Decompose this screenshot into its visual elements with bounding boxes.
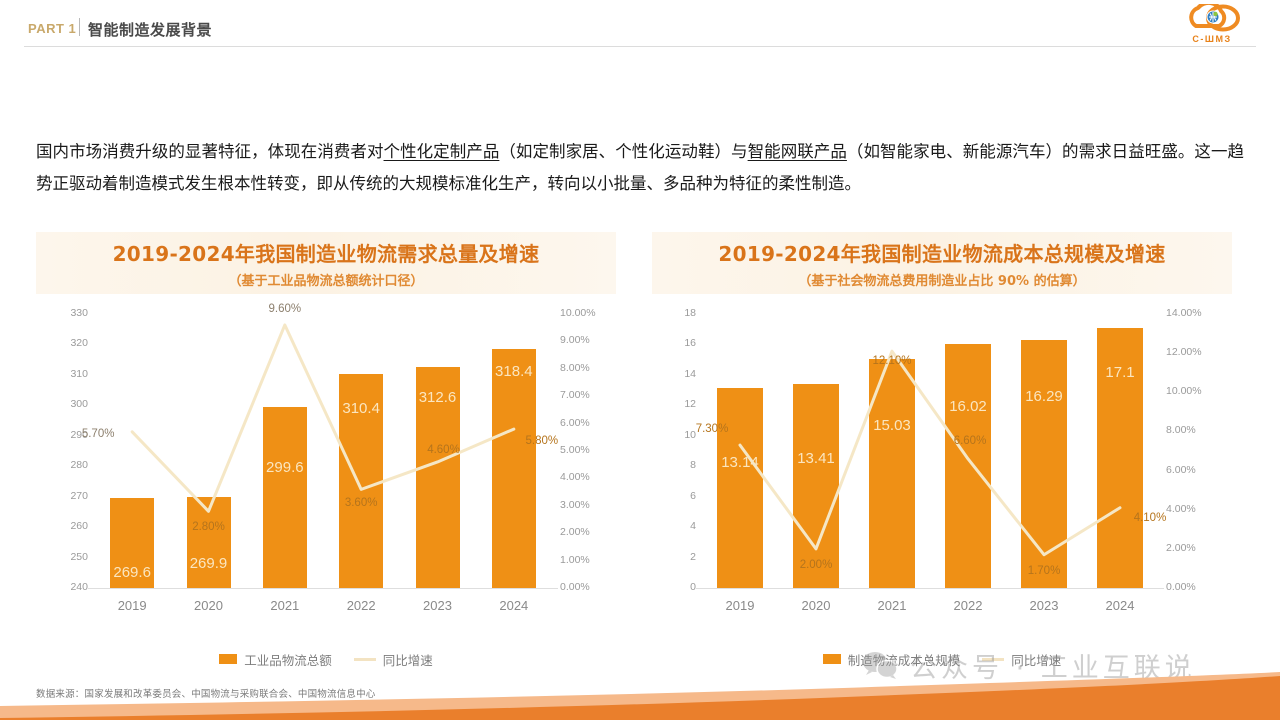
- y-axis-tick-left: 280: [46, 459, 88, 471]
- legend-item[interactable]: 同比增速: [354, 650, 433, 669]
- legend-label: 同比增速: [1011, 650, 1061, 669]
- x-axis-tick: 2020: [786, 598, 846, 613]
- legend-item[interactable]: 制造物流成本总规模: [823, 650, 961, 669]
- bar: [187, 497, 231, 588]
- header-rule: [24, 46, 1256, 47]
- bar-value-label: 13.41: [776, 450, 856, 467]
- y-axis-tick-left: 300: [46, 398, 88, 410]
- y-axis-tick-right: 9.00%: [560, 334, 616, 346]
- y-axis-tick-left: 4: [654, 520, 696, 532]
- x-axis-tick: 2024: [484, 598, 544, 613]
- y-axis-tick-right: 1.00%: [560, 554, 616, 566]
- paragraph-text: （如定制家居、个性化运动鞋）与: [499, 142, 747, 161]
- growth-rate-label: 3.60%: [321, 497, 401, 509]
- bar: [793, 384, 839, 588]
- x-axis-tick: 2023: [1014, 598, 1074, 613]
- chart-title: 2019-2024年我国制造业物流需求总量及增速: [113, 238, 540, 267]
- legend-label: 同比增速: [383, 650, 433, 669]
- section-title: 智能制造发展背景: [88, 19, 212, 40]
- brand-logo: C-ШMЗ: [1166, 4, 1258, 48]
- chart-subtitle: （基于工业品物流总额统计口径）: [228, 270, 423, 289]
- chart-plot-area: 33032031030029028027026025024010.00%9.00…: [36, 308, 616, 618]
- bar-value-label: 299.6: [245, 459, 325, 476]
- y-axis-tick-left: 310: [46, 368, 88, 380]
- y-axis-tick-right: 14.00%: [1166, 307, 1222, 319]
- y-axis-tick-right: 12.00%: [1166, 346, 1222, 358]
- growth-rate-label: 1.70%: [1004, 565, 1084, 577]
- y-axis-tick-left: 14: [654, 368, 696, 380]
- y-axis-tick-left: 270: [46, 490, 88, 502]
- chart-legend-cost: 制造物流成本总规模同比增速: [652, 648, 1232, 670]
- legend-bar-swatch: [219, 654, 237, 664]
- y-axis-tick-right: 0.00%: [1166, 581, 1222, 593]
- bar-value-label: 269.9: [169, 555, 249, 572]
- bar: [1021, 340, 1067, 588]
- y-axis-tick-right: 2.00%: [560, 526, 616, 538]
- legend-item[interactable]: 工业品物流总额: [219, 650, 332, 669]
- y-axis-tick-right: 3.00%: [560, 499, 616, 511]
- y-axis-tick-right: 8.00%: [560, 362, 616, 374]
- chart-legend-demand: 工业品物流总额同比增速: [36, 648, 616, 670]
- cloud-logo-icon: [1166, 4, 1258, 34]
- y-axis-tick-left: 18: [654, 307, 696, 319]
- chart-title-band: 2019-2024年我国制造业物流成本总规模及增速 （基于社会物流总费用制造业占…: [652, 232, 1232, 294]
- emphasis-term: 个性化定制产品: [384, 142, 500, 161]
- x-axis-tick: 2021: [255, 598, 315, 613]
- y-axis-tick-left: 8: [654, 459, 696, 471]
- y-axis-tick-left: 320: [46, 337, 88, 349]
- part-label: PART 1: [28, 21, 76, 36]
- bar-value-label: 15.03: [852, 417, 932, 434]
- x-axis-baseline: [88, 588, 558, 589]
- bar: [492, 349, 536, 588]
- growth-rate-label: 6.60%: [930, 435, 1010, 447]
- growth-rate-label: 7.30%: [672, 423, 752, 435]
- logo-wordmark: C-ШMЗ: [1166, 34, 1258, 44]
- y-axis-tick-left: 0: [654, 581, 696, 593]
- x-axis-tick: 2019: [102, 598, 162, 613]
- bottom-wave-decoration: [0, 672, 1280, 720]
- bar-value-label: 16.02: [928, 398, 1008, 415]
- chart-title: 2019-2024年我国制造业物流成本总规模及增速: [718, 238, 1165, 267]
- x-axis-tick: 2022: [938, 598, 998, 613]
- bar-value-label: 16.29: [1004, 388, 1084, 405]
- y-axis-tick-left: 330: [46, 307, 88, 319]
- bar-value-label: 318.4: [474, 363, 554, 380]
- bar: [869, 359, 915, 588]
- x-axis-tick: 2024: [1090, 598, 1150, 613]
- growth-rate-label: 12.10%: [852, 355, 932, 367]
- legend-label: 工业品物流总额: [244, 650, 332, 669]
- bar-value-label: 310.4: [321, 400, 401, 417]
- y-axis-tick-right: 0.00%: [560, 581, 616, 593]
- growth-rate-label: 2.00%: [776, 559, 856, 571]
- y-axis-tick-right: 7.00%: [560, 389, 616, 401]
- chart-panel-cost: 2019-2024年我国制造业物流成本总规模及增速 （基于社会物流总费用制造业占…: [652, 232, 1232, 662]
- bar-value-label: 13.14: [700, 454, 780, 471]
- chart-panel-demand: 2019-2024年我国制造业物流需求总量及增速 （基于工业品物流总额统计口径）…: [36, 232, 616, 662]
- y-axis-tick-left: 6: [654, 490, 696, 502]
- chart-subtitle: （基于社会物流总费用制造业占比 90% 的估算）: [798, 270, 1085, 289]
- growth-rate-label: 2.80%: [169, 521, 249, 533]
- paragraph-text: 国内市场消费升级的显著特征，体现在消费者对: [36, 142, 384, 161]
- legend-line-swatch: [982, 658, 1004, 661]
- x-axis-tick: 2022: [331, 598, 391, 613]
- y-axis-tick-right: 4.00%: [560, 471, 616, 483]
- legend-item[interactable]: 同比增速: [982, 650, 1061, 669]
- bar-value-label: 269.6: [92, 564, 172, 581]
- y-axis-tick-right: 6.00%: [1166, 464, 1222, 476]
- growth-rate-label: 4.10%: [1110, 512, 1190, 524]
- y-axis-tick-left: 240: [46, 581, 88, 593]
- x-axis-tick: 2021: [862, 598, 922, 613]
- y-axis-tick-right: 8.00%: [1166, 424, 1222, 436]
- body-paragraph: 国内市场消费升级的显著特征，体现在消费者对个性化定制产品（如定制家居、个性化运动…: [36, 136, 1244, 200]
- y-axis-tick-left: 260: [46, 520, 88, 532]
- emphasis-term: 智能网联产品: [748, 142, 847, 161]
- y-axis-tick-left: 2: [654, 551, 696, 563]
- y-axis-tick-right: 6.00%: [560, 417, 616, 429]
- bar: [717, 388, 763, 588]
- bar: [263, 407, 307, 588]
- x-axis-tick: 2020: [179, 598, 239, 613]
- y-axis-tick-left: 12: [654, 398, 696, 410]
- legend-bar-swatch: [823, 654, 841, 664]
- growth-rate-label: 5.70%: [58, 428, 138, 440]
- bar-value-label: 312.6: [398, 389, 478, 406]
- bar-value-label: 17.1: [1080, 364, 1160, 381]
- chart-title-band: 2019-2024年我国制造业物流需求总量及增速 （基于工业品物流总额统计口径）: [36, 232, 616, 294]
- y-axis-tick-left: 16: [654, 337, 696, 349]
- x-axis-baseline: [696, 588, 1164, 589]
- growth-rate-label: 9.60%: [245, 303, 325, 315]
- y-axis-tick-right: 2.00%: [1166, 542, 1222, 554]
- y-axis-tick-right: 10.00%: [560, 307, 616, 319]
- growth-rate-label: 4.60%: [404, 444, 484, 456]
- y-axis-tick-right: 10.00%: [1166, 385, 1222, 397]
- bar: [945, 344, 991, 588]
- chart-plot-area: 18161412108642014.00%12.00%10.00%8.00%6.…: [652, 308, 1232, 618]
- page-header: PART 1 智能制造发展背景 C-ШMЗ: [0, 0, 1280, 48]
- growth-rate-label: 5.80%: [502, 435, 582, 447]
- header-divider: [79, 18, 80, 36]
- legend-line-swatch: [354, 658, 376, 661]
- x-axis-tick: 2019: [710, 598, 770, 613]
- y-axis-tick-left: 250: [46, 551, 88, 563]
- x-axis-tick: 2023: [408, 598, 468, 613]
- legend-label: 制造物流成本总规模: [848, 650, 961, 669]
